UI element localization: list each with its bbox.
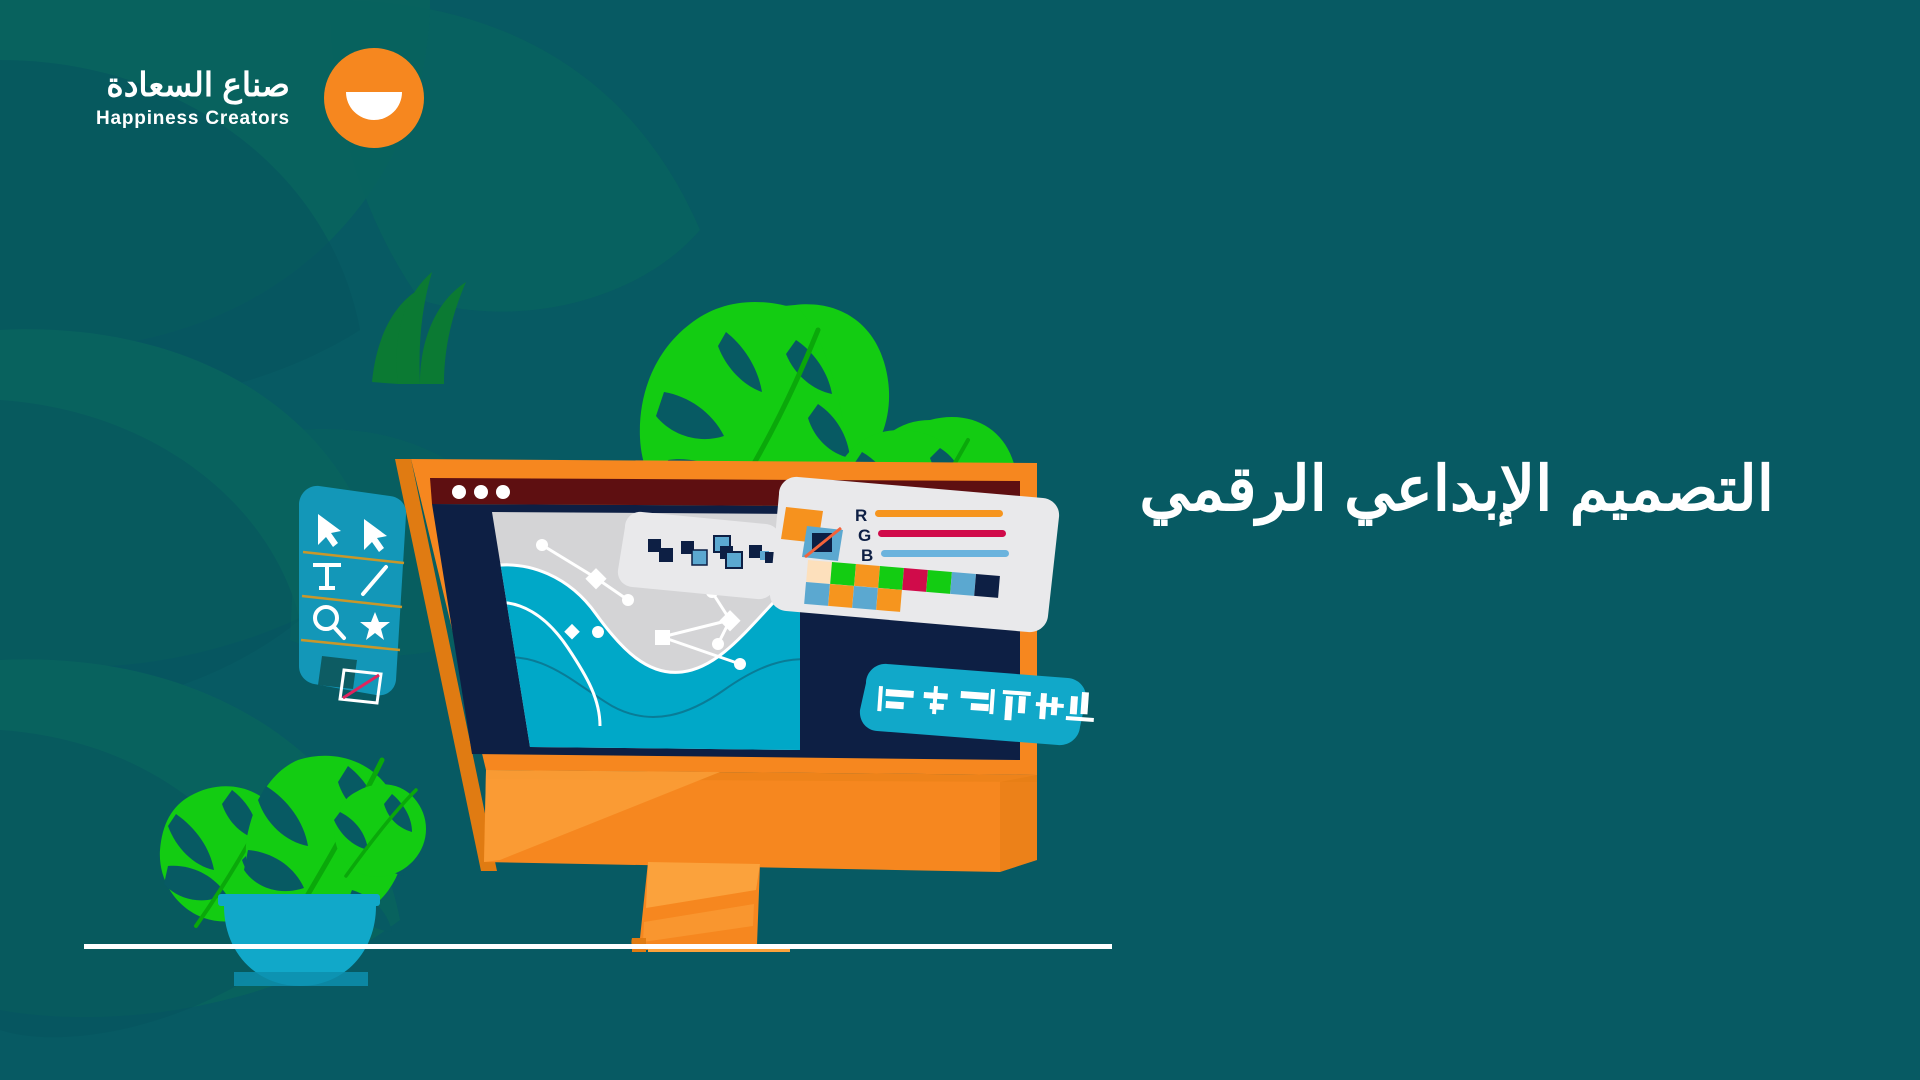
poster-canvas: R G B — [0, 0, 1920, 1080]
logo-english-name: Happiness Creators — [96, 108, 290, 130]
logo-text: صناع السعادة Happiness Creators — [96, 66, 290, 131]
background-pattern — [0, 0, 1920, 1080]
smile-circle-icon — [324, 48, 424, 148]
brand-logo[interactable]: صناع السعادة Happiness Creators — [96, 48, 424, 148]
ground-line — [84, 944, 1112, 949]
logo-arabic-name: صناع السعادة — [96, 66, 290, 104]
page-title: التصميم الإبداعي الرقمي — [1074, 446, 1774, 534]
